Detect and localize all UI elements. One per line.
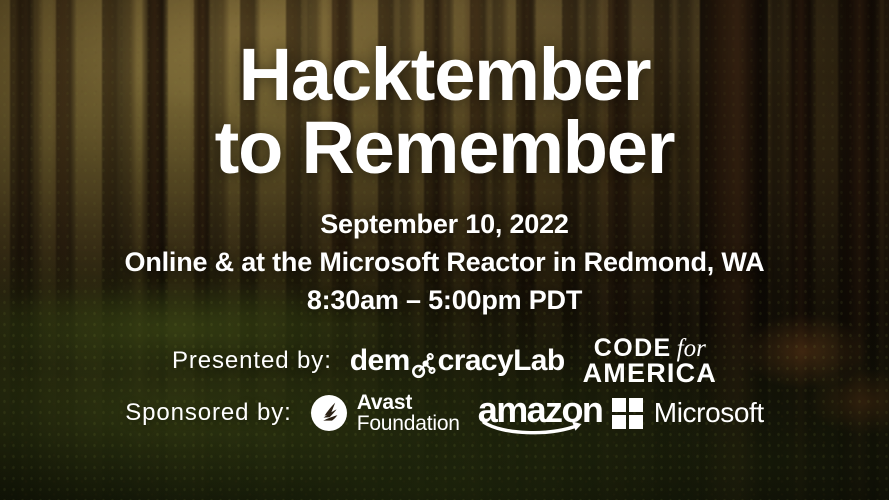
avast-foundation-logo[interactable]: Avast Foundation	[310, 392, 460, 435]
poster-content: Hacktember to Remember September 10, 202…	[0, 0, 889, 500]
microsoft-logo[interactable]: Microsoft	[612, 397, 764, 429]
presented-by-label: Presented by:	[172, 347, 332, 375]
code-for-america-line-2: AMERICA	[583, 361, 717, 387]
microsoft-wordmark: Microsoft	[654, 397, 764, 429]
microsoft-square-top-left	[612, 398, 626, 412]
sponsored-by-row: Sponsored by:	[0, 387, 889, 439]
presented-by-row: Presented by: dem	[0, 335, 889, 387]
event-date: September 10, 2022	[125, 205, 765, 243]
avast-swoosh-icon	[310, 394, 348, 432]
democracylab-logo[interactable]: dem	[350, 346, 565, 376]
sponsored-by-label: Sponsored by:	[125, 399, 291, 427]
headline-line-2: to Remember	[215, 111, 675, 184]
event-details: September 10, 2022 Online & at the Micro…	[125, 205, 765, 320]
democracylab-text-after: cracyLab	[438, 346, 565, 376]
avast-name: Avast	[357, 392, 460, 414]
microsoft-square-top-right	[629, 398, 643, 412]
microsoft-squares-icon	[612, 398, 643, 429]
event-poster: Hacktember to Remember September 10, 202…	[0, 0, 889, 500]
avast-foundation-wordmark: Avast Foundation	[357, 392, 460, 435]
amazon-logo[interactable]: amazon	[478, 392, 594, 434]
page-title: Hacktember to Remember	[215, 38, 675, 185]
credits-section: Presented by: dem	[0, 335, 889, 439]
event-time: 8:30am – 5:00pm PDT	[125, 281, 765, 319]
molecule-node-icon	[409, 350, 439, 380]
microsoft-square-bottom-left	[612, 415, 626, 429]
headline-line-1: Hacktember	[239, 33, 651, 116]
avast-foundation-name: Foundation	[357, 413, 460, 435]
amazon-smile-icon	[481, 419, 591, 435]
event-location: Online & at the Microsoft Reactor in Red…	[125, 243, 765, 281]
democracylab-text-before: dem	[350, 346, 410, 376]
code-for-america-logo[interactable]: CODEfor AMERICA	[583, 336, 717, 387]
microsoft-square-bottom-right	[629, 415, 643, 429]
